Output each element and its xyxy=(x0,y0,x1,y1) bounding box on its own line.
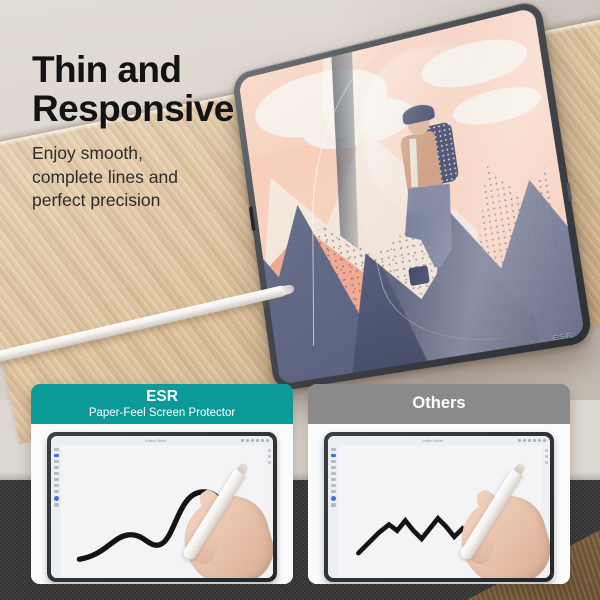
pan-icon[interactable] xyxy=(268,461,271,464)
select-tool-icon[interactable] xyxy=(331,448,336,451)
layers-icon[interactable] xyxy=(528,439,531,442)
text-tool-icon[interactable] xyxy=(331,484,336,487)
pen-tool-icon[interactable] xyxy=(331,454,336,457)
card-subtitle-esr: Paper-Feel Screen Protector xyxy=(89,407,235,419)
grid-tool-icon[interactable] xyxy=(54,503,59,506)
card-header-esr: ESR Paper-Feel Screen Protector xyxy=(31,384,293,424)
app-tool-sidebar-others xyxy=(328,445,338,578)
card-title-esr: ESR xyxy=(146,389,178,405)
eraser-tool-icon[interactable] xyxy=(331,466,336,469)
hand-holding-stylus-esr xyxy=(161,474,273,578)
undo-icon[interactable] xyxy=(241,439,244,442)
pan-icon[interactable] xyxy=(545,461,548,464)
app-toolbar-esr: Untitled Sketch xyxy=(51,436,273,445)
tablet-body: ESR xyxy=(232,0,594,392)
app-toolbar-others: Untitled Sketch xyxy=(328,436,550,445)
eraser-tool-icon[interactable] xyxy=(54,466,59,469)
subtitle-line-2: complete lines and xyxy=(32,167,178,187)
zoom-out-icon[interactable] xyxy=(268,455,271,458)
redo-icon[interactable] xyxy=(246,439,249,442)
color-icon[interactable] xyxy=(256,439,259,442)
mini-screen-others: Untitled Sketch xyxy=(328,436,550,578)
headline-block: Thin and Responsive Enjoy smooth, comple… xyxy=(32,50,282,212)
line-tool-icon[interactable] xyxy=(54,478,59,481)
brand-logo: ESR xyxy=(552,330,574,342)
comparison-card-others: Others Untitled Sketch xyxy=(308,384,570,584)
share-icon[interactable] xyxy=(538,439,541,442)
color-icon[interactable] xyxy=(533,439,536,442)
layers-icon[interactable] xyxy=(251,439,254,442)
card-title-others: Others xyxy=(412,395,465,412)
color-swatch-icon[interactable] xyxy=(331,496,336,501)
app-tool-sidebar-esr xyxy=(51,445,61,578)
mini-tablet-others: Untitled Sketch xyxy=(324,432,554,582)
hand-holding-stylus-others xyxy=(438,474,550,578)
redo-icon[interactable] xyxy=(523,439,526,442)
zoom-out-icon[interactable] xyxy=(545,455,548,458)
page-subtitle: Enjoy smooth, complete lines and perfect… xyxy=(32,142,282,212)
line-tool-icon[interactable] xyxy=(331,478,336,481)
fill-tool-icon[interactable] xyxy=(54,490,59,493)
tablet-screen xyxy=(238,7,584,384)
pen-tool-icon[interactable] xyxy=(54,454,59,457)
mini-tablet-esr: Untitled Sketch xyxy=(47,432,277,582)
title-line-2: Responsive xyxy=(32,88,234,129)
comparison-section: ESR Paper-Feel Screen Protector Untitled… xyxy=(0,384,600,600)
undo-icon[interactable] xyxy=(518,439,521,442)
app-title-esr: Untitled Sketch xyxy=(145,439,166,443)
card-body-esr: Untitled Sketch xyxy=(31,424,293,584)
color-swatch-icon[interactable] xyxy=(54,496,59,501)
grid-tool-icon[interactable] xyxy=(331,503,336,506)
brush-tool-icon[interactable] xyxy=(331,460,336,463)
app-title-others: Untitled Sketch xyxy=(422,439,443,443)
card-header-others: Others xyxy=(308,384,570,424)
more-icon[interactable] xyxy=(543,439,546,442)
text-tool-icon[interactable] xyxy=(54,484,59,487)
fill-tool-icon[interactable] xyxy=(331,490,336,493)
more-icon[interactable] xyxy=(266,439,269,442)
zoom-in-icon[interactable] xyxy=(545,449,548,452)
subtitle-line-3: perfect precision xyxy=(32,190,160,210)
mini-screen-esr: Untitled Sketch xyxy=(51,436,273,578)
page-title: Thin and Responsive xyxy=(32,50,282,128)
select-tool-icon[interactable] xyxy=(54,448,59,451)
product-marketing-image: Thin and Responsive Enjoy smooth, comple… xyxy=(0,0,600,600)
comparison-card-esr: ESR Paper-Feel Screen Protector Untitled… xyxy=(31,384,293,584)
zoom-in-icon[interactable] xyxy=(268,449,271,452)
subtitle-line-1: Enjoy smooth, xyxy=(32,143,143,163)
title-line-1: Thin and xyxy=(32,49,181,90)
card-body-others: Untitled Sketch xyxy=(308,424,570,584)
shape-tool-icon[interactable] xyxy=(54,472,59,475)
share-icon[interactable] xyxy=(261,439,264,442)
brush-tool-icon[interactable] xyxy=(54,460,59,463)
shape-tool-icon[interactable] xyxy=(331,472,336,475)
